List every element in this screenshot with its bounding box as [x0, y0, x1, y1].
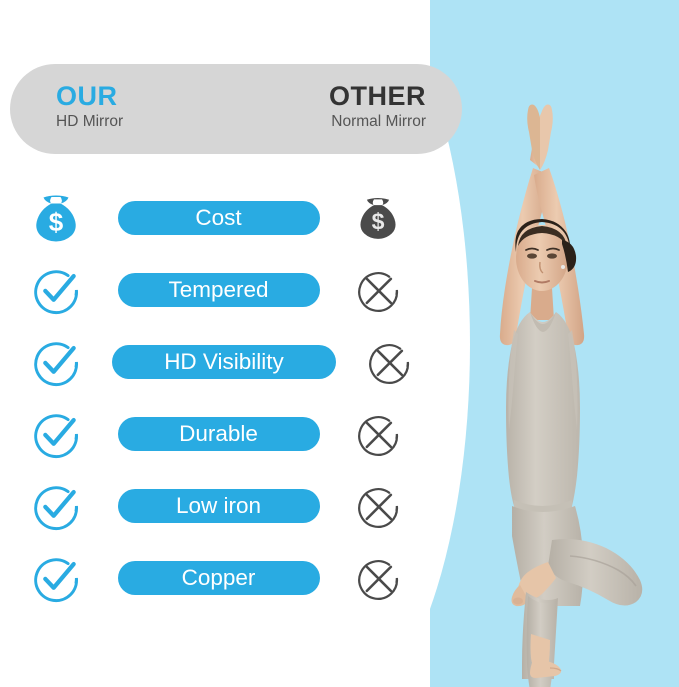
table-row: Low iron	[0, 470, 430, 542]
cell-ours-icon	[0, 408, 112, 460]
cell-ours-icon	[0, 264, 112, 316]
header-column-other: OTHER Normal Mirror	[329, 82, 426, 132]
money-bag-icon: $	[354, 194, 402, 242]
cross-circle-icon	[365, 338, 413, 386]
table-row: $ Cost $	[0, 182, 430, 254]
cell-ours-icon	[0, 480, 112, 532]
check-circle-icon	[30, 552, 82, 604]
header-subtitle-ours: HD Mirror	[56, 113, 123, 132]
cross-circle-icon	[354, 482, 402, 530]
cell-other-icon	[325, 482, 430, 530]
table-row: Durable	[0, 398, 430, 470]
table-row: Copper	[0, 542, 430, 614]
feature-pill: Durable	[118, 417, 320, 451]
cross-circle-icon	[354, 266, 402, 314]
table-row: Tempered	[0, 254, 430, 326]
cell-other-icon	[325, 410, 430, 458]
money-bag-icon: $	[29, 191, 83, 245]
yoga-woman-figure	[430, 0, 679, 687]
cell-feature-label: Durable	[112, 417, 325, 451]
comparison-rows: $ Cost $ Temp	[0, 182, 430, 614]
cell-ours-icon	[0, 552, 112, 604]
comparison-infographic: OUR HD Mirror OTHER Normal Mirror $ Cost	[0, 0, 679, 687]
check-circle-icon	[30, 480, 82, 532]
header-title-other: OTHER	[329, 82, 426, 110]
check-circle-icon	[30, 336, 82, 388]
check-circle-icon	[30, 408, 82, 460]
cell-feature-label: HD Visibility	[112, 345, 336, 379]
svg-text:$: $	[49, 207, 64, 237]
cell-other-icon	[325, 266, 430, 314]
cell-other-icon: $	[325, 194, 430, 242]
cell-other-icon	[336, 338, 441, 386]
cell-other-icon	[325, 554, 430, 602]
header-subtitle-other: Normal Mirror	[329, 113, 426, 132]
cell-feature-label: Copper	[112, 561, 325, 595]
table-row: HD Visibility	[0, 326, 430, 398]
hero-panel	[430, 0, 679, 687]
feature-pill: HD Visibility	[112, 345, 336, 379]
cross-circle-icon	[354, 410, 402, 458]
cross-circle-icon	[354, 554, 402, 602]
feature-pill: Cost	[118, 201, 320, 235]
feature-pill: Low iron	[118, 489, 320, 523]
feature-pill: Copper	[118, 561, 320, 595]
cell-feature-label: Tempered	[112, 273, 325, 307]
header-column-ours: OUR HD Mirror	[56, 82, 123, 132]
cell-ours-icon: $	[0, 191, 112, 245]
header-title-ours: OUR	[56, 82, 123, 110]
cell-ours-icon	[0, 336, 112, 388]
check-circle-icon	[30, 264, 82, 316]
comparison-header-bar: OUR HD Mirror OTHER Normal Mirror	[10, 64, 462, 154]
cell-feature-label: Low iron	[112, 489, 325, 523]
feature-pill: Tempered	[118, 273, 320, 307]
svg-text:$: $	[371, 209, 384, 235]
cell-feature-label: Cost	[112, 201, 325, 235]
